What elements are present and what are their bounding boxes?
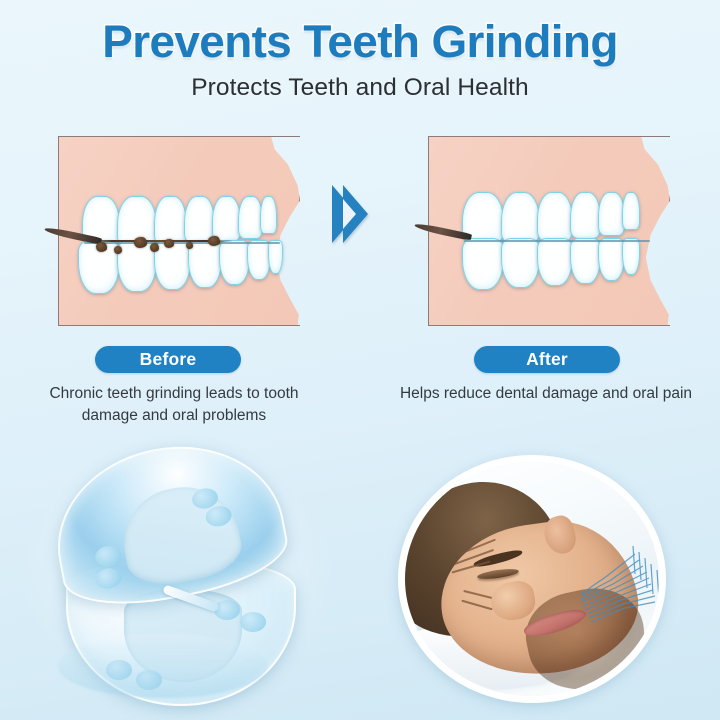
cushion-pad bbox=[94, 566, 123, 591]
tooth bbox=[622, 238, 640, 275]
tooth bbox=[570, 192, 601, 239]
page-title: Prevents Teeth Grinding bbox=[0, 18, 720, 66]
double-chevron-right-icon bbox=[332, 183, 412, 245]
status-badge-after: After bbox=[474, 346, 620, 373]
tooth bbox=[219, 240, 250, 285]
sleeping-man-photo bbox=[398, 455, 666, 703]
cushion-pad bbox=[94, 544, 123, 569]
tooth bbox=[537, 192, 573, 242]
tooth bbox=[598, 238, 625, 281]
bite-line bbox=[84, 242, 280, 244]
tooth bbox=[537, 238, 573, 286]
tooth bbox=[154, 240, 191, 290]
cushion-pad bbox=[240, 612, 266, 632]
header: Prevents Teeth Grinding Protects Teeth a… bbox=[0, 18, 720, 102]
tooth bbox=[462, 238, 504, 290]
vibration-waves-icon bbox=[577, 530, 666, 634]
mouth-guard-product-image bbox=[36, 446, 336, 708]
tooth bbox=[268, 240, 283, 274]
decay-spot bbox=[186, 242, 193, 249]
status-badge-before: Before bbox=[95, 346, 241, 373]
decay-spot bbox=[114, 246, 122, 254]
decay-spot bbox=[96, 242, 107, 252]
upper-teeth-row-after bbox=[462, 192, 640, 244]
lower-teeth-row-before bbox=[78, 240, 283, 294]
cushion-pad bbox=[214, 600, 240, 620]
tooth bbox=[501, 192, 540, 244]
lower-teeth-row-after bbox=[462, 238, 640, 290]
mouth-guard-rim-highlight bbox=[58, 634, 268, 698]
after-illustration-panel bbox=[428, 136, 670, 326]
before-illustration-panel bbox=[58, 136, 300, 326]
bite-line bbox=[464, 240, 650, 242]
page-subtitle: Protects Teeth and Oral Health bbox=[0, 74, 720, 102]
product-poster: Prevents Teeth Grinding Protects Teeth a… bbox=[0, 0, 720, 720]
tooth bbox=[598, 192, 625, 236]
tray-cavity bbox=[115, 478, 247, 592]
decay-spot bbox=[164, 239, 174, 248]
caption-before: Chronic teeth grinding leads to tooth da… bbox=[24, 383, 324, 427]
chevron-right-icon bbox=[343, 185, 368, 243]
tooth bbox=[622, 192, 640, 230]
tooth bbox=[188, 240, 222, 288]
caption-after: Helps reduce dental damage and oral pain bbox=[396, 383, 696, 405]
decay-spot bbox=[150, 243, 159, 252]
tooth bbox=[260, 196, 277, 234]
tooth bbox=[212, 196, 241, 242]
decay-spot bbox=[208, 236, 220, 246]
decay-spot bbox=[134, 237, 147, 248]
tooth bbox=[501, 238, 540, 288]
tooth bbox=[570, 238, 601, 284]
chevron-notch bbox=[343, 199, 356, 229]
